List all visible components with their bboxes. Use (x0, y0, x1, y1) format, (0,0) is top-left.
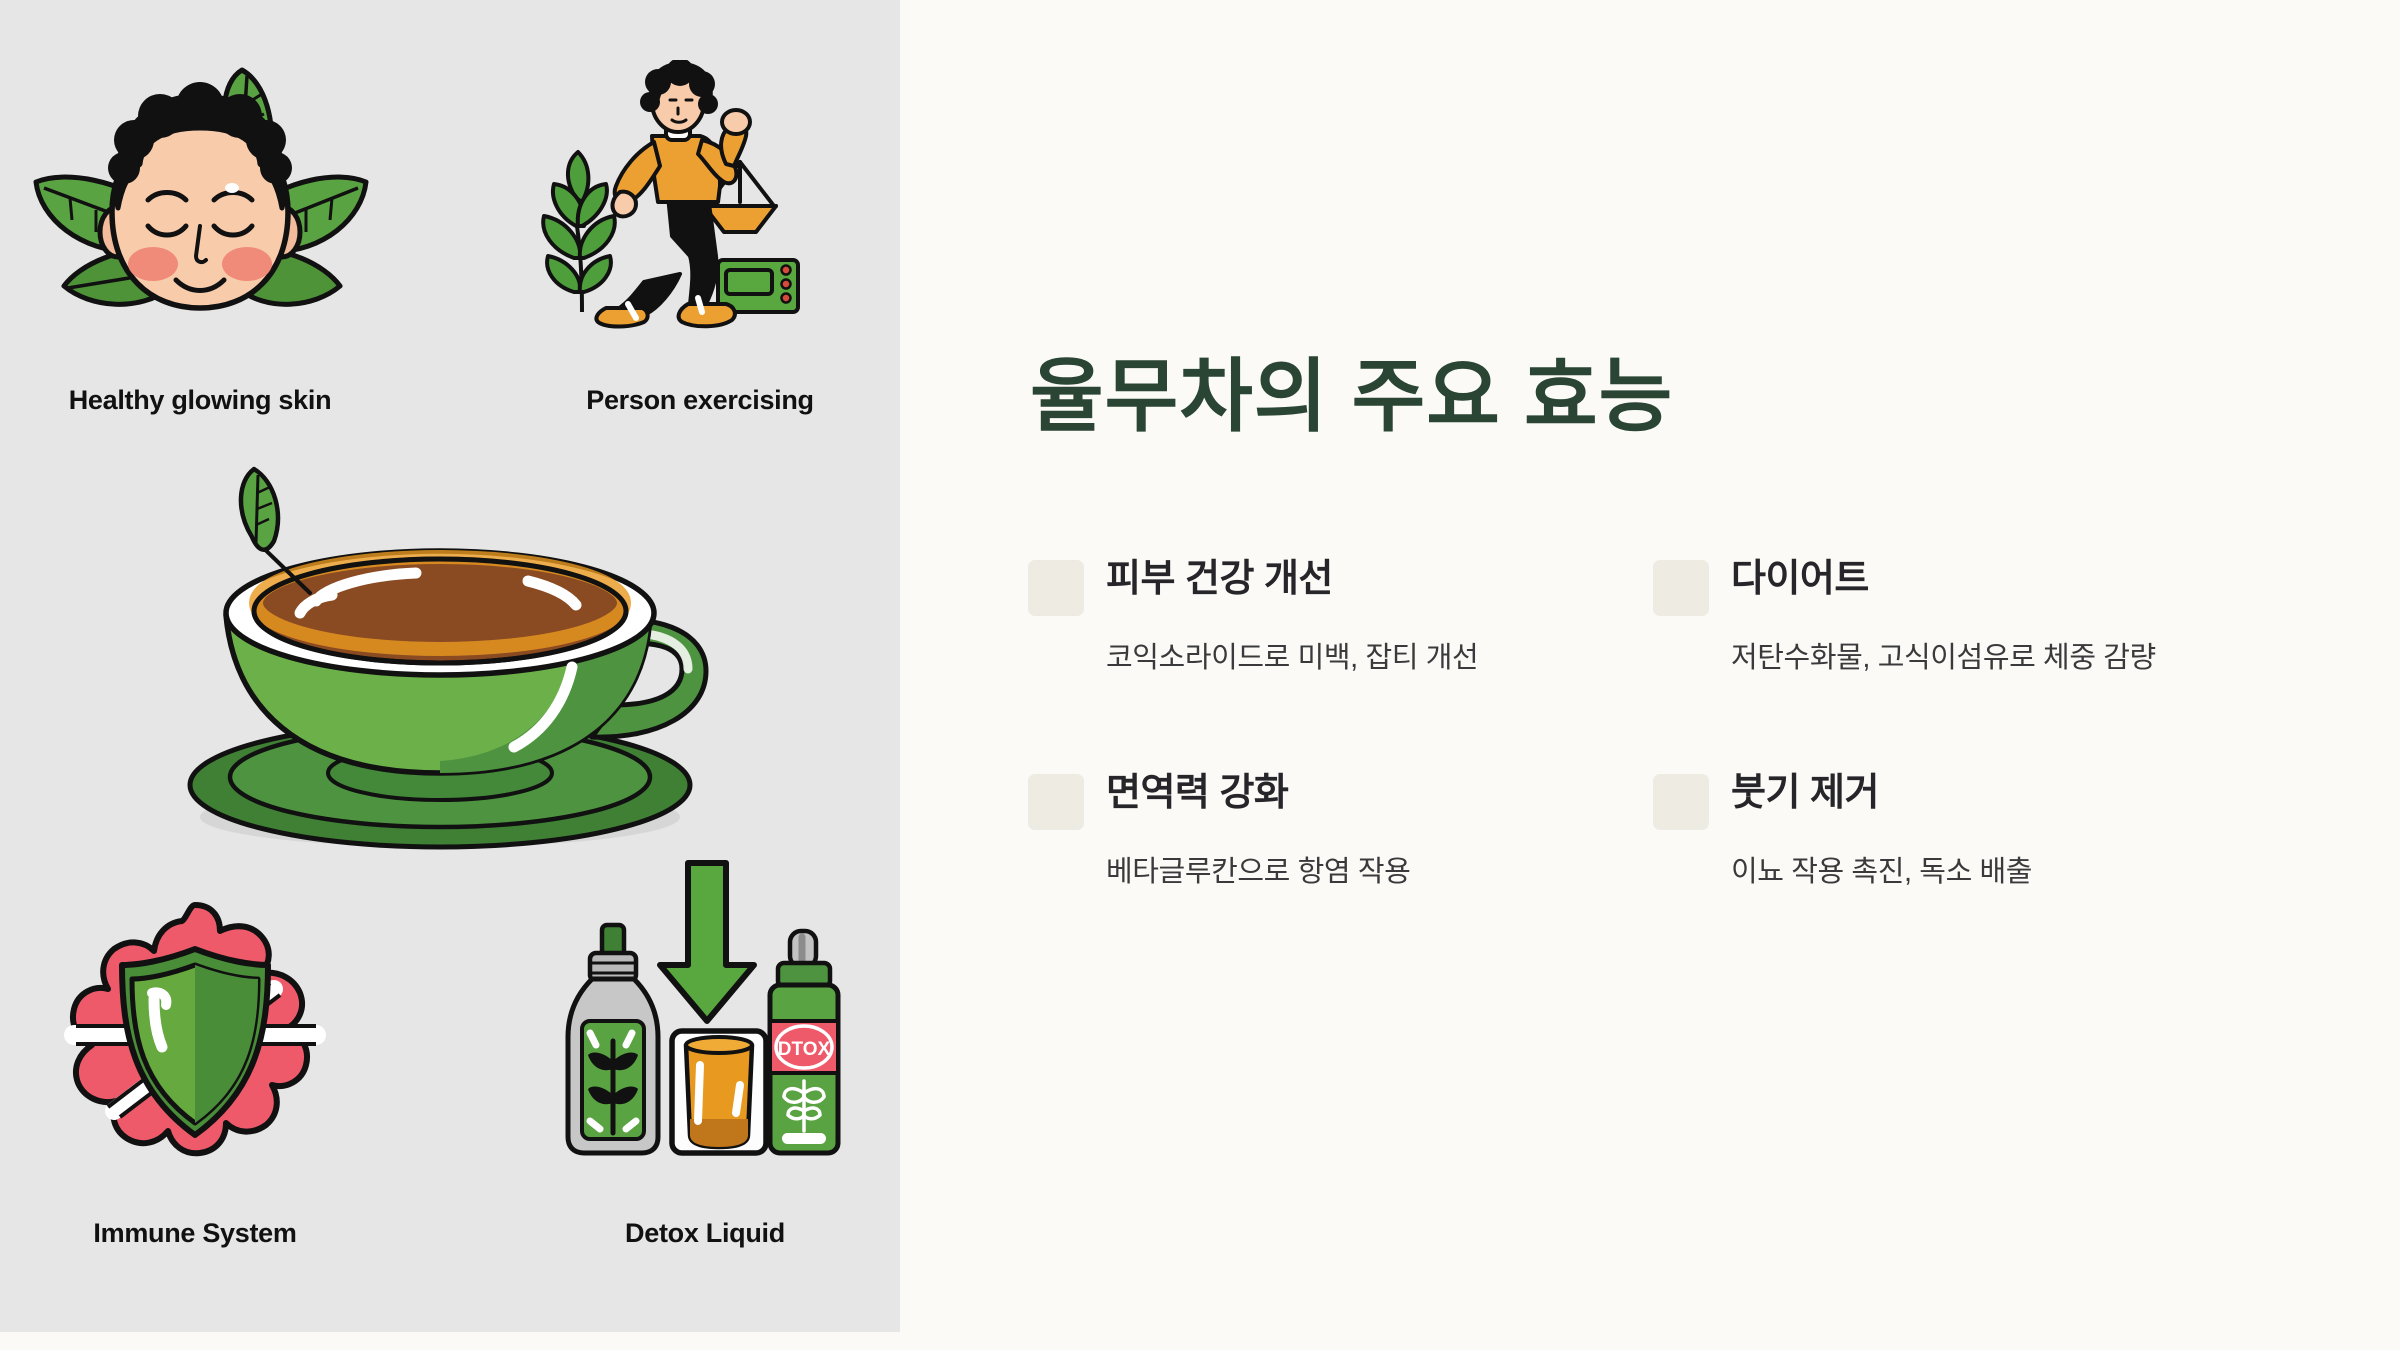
healthy-glowing-skin-caption: Healthy glowing skin (10, 385, 390, 416)
tea-cup-illustration (140, 455, 780, 855)
detox-bottle-label: DTOX (778, 1039, 831, 1060)
shield-germ-icon (30, 895, 360, 1195)
immune-system-caption: Immune System (20, 1218, 370, 1249)
slide-root: Healthy glowing skin (0, 0, 2400, 1350)
benefit-head: 붓기 제거 (1653, 772, 2213, 830)
benefit-description: 이뇨 작용 촉진, 독소 배출 (1731, 851, 2211, 894)
content-panel: 율무차의 주요 효능 피부 건강 개선 코익소라이드로 미백, 잡티 개선 다이… (900, 0, 2400, 1350)
benefit-item-swelling: 붓기 제거 이뇨 작용 촉진, 독소 배출 (1653, 772, 2213, 894)
benefit-head: 면역력 강화 (1028, 772, 1588, 830)
person-exercising-caption: Person exercising (530, 385, 870, 416)
healthy-glowing-skin-illustration (10, 60, 390, 360)
benefit-head: 피부 건강 개선 (1028, 558, 1588, 616)
benefit-description: 저탄수화물, 고식이섬유로 체중 감량 (1731, 637, 2211, 680)
benefits-grid: 피부 건강 개선 코익소라이드로 미백, 잡티 개선 다이어트 저탄수화물, 고… (1028, 558, 2328, 894)
benefit-item-skin: 피부 건강 개선 코익소라이드로 미백, 잡티 개선 (1028, 558, 1588, 680)
bullet-square-icon (1028, 774, 1084, 830)
page-title: 율무차의 주요 효능 (1030, 352, 1673, 442)
exercising-person-icon (540, 60, 870, 360)
benefit-title: 피부 건강 개선 (1106, 558, 1333, 602)
bullet-square-icon (1653, 560, 1709, 616)
detox-liquid-caption: Detox Liquid (530, 1218, 880, 1249)
detox-liquid-illustration: DTOX (540, 845, 870, 1195)
benefit-description: 코익소라이드로 미백, 잡티 개선 (1106, 637, 1586, 680)
face-with-leaves-icon (10, 60, 390, 360)
benefit-title: 다이어트 (1731, 558, 1869, 602)
benefit-description: 베타글루칸으로 항염 작용 (1106, 851, 1586, 894)
benefit-head: 다이어트 (1653, 558, 2213, 616)
benefit-item-diet: 다이어트 저탄수화물, 고식이섬유로 체중 감량 (1653, 558, 2213, 680)
bullet-square-icon (1028, 560, 1084, 616)
green-teacup-icon (140, 455, 780, 855)
benefit-item-immunity: 면역력 강화 베타글루칸으로 항염 작용 (1028, 772, 1588, 894)
immune-system-illustration (30, 895, 360, 1195)
bullet-square-icon (1653, 774, 1709, 830)
benefit-title: 붓기 제거 (1731, 772, 1879, 816)
illustration-panel: Healthy glowing skin (0, 0, 900, 1332)
benefit-title: 면역력 강화 (1106, 772, 1288, 816)
detox-bottles-icon: DTOX (540, 845, 870, 1195)
person-exercising-illustration (540, 60, 870, 360)
